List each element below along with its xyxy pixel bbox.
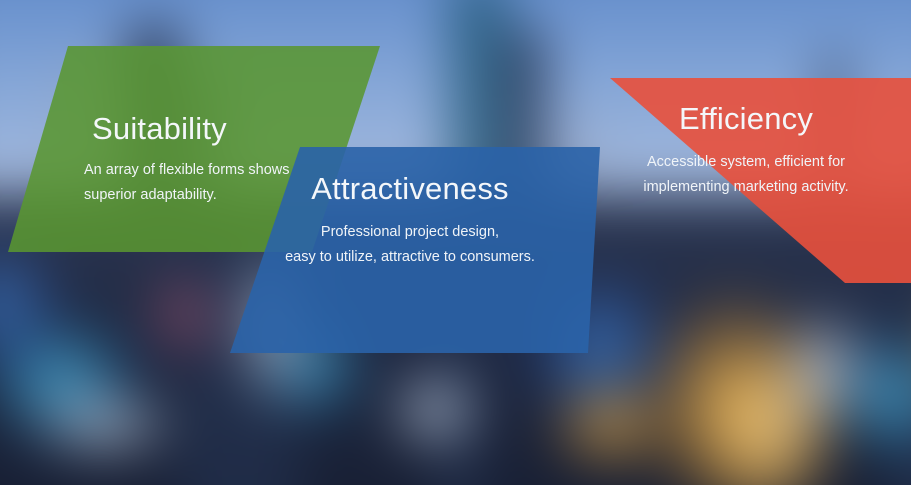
light-glow — [30, 395, 180, 455]
panel-efficiency-body: Accessible system, efficient for impleme… — [596, 150, 896, 200]
panel-attractiveness[interactable]: Attractiveness Professional project desi… — [220, 140, 600, 362]
light-glow — [150, 270, 220, 360]
panel-suitability-title: Suitability — [92, 112, 227, 147]
light-glow — [390, 370, 480, 450]
panel-attractiveness-title: Attractiveness — [220, 172, 600, 207]
panel-attractiveness-body: Professional project design, easy to uti… — [220, 220, 600, 270]
panel-efficiency[interactable]: Efficiency Accessible system, efficient … — [596, 70, 911, 290]
panel-efficiency-title: Efficiency — [596, 102, 896, 137]
infographic-banner: Suitability An array of flexible forms s… — [0, 0, 911, 485]
light-glow — [550, 380, 670, 470]
